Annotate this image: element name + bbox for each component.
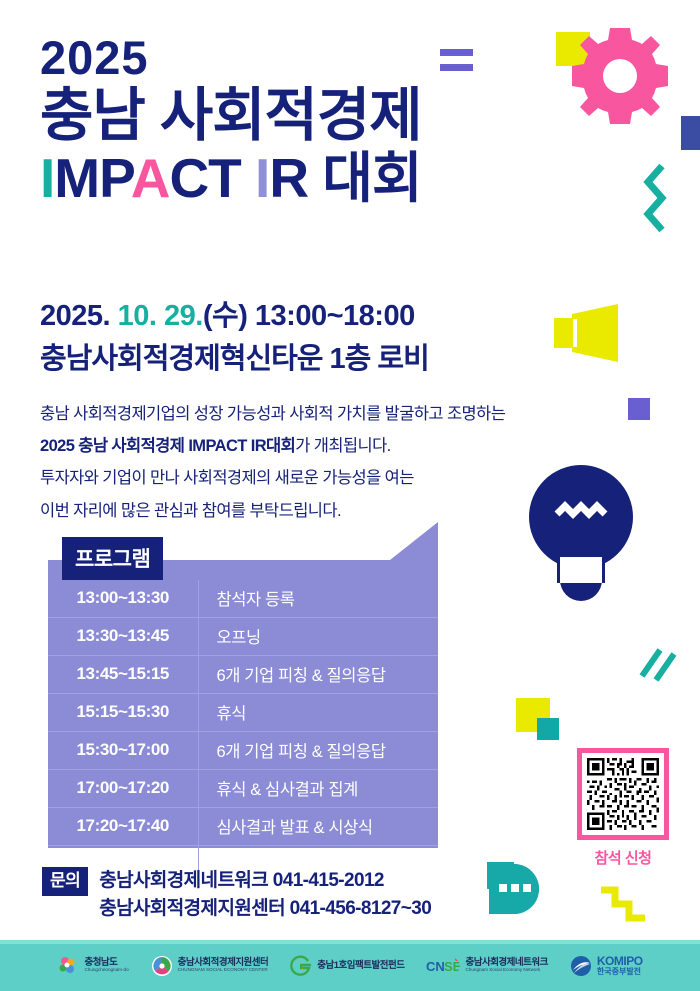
sponsor-logo-chungcheongnamdo: 충청남도 Chungcheongnam-do (57, 955, 128, 977)
date-day: 29. (164, 300, 203, 332)
program-activity: 6개 기업 피칭 & 질의응답 (198, 732, 438, 770)
program-time: 13:45~15:15 (48, 656, 198, 694)
description-emphasis: 2025 충남 사회적경제 IMPACT IR대회 (40, 437, 295, 455)
table-row: 15:15~15:30 휴식 (48, 694, 438, 732)
teal-zigzag-icon (642, 162, 672, 242)
event-poster: 2025 충남 사회적경제 IMPACT IR 대회 2025. 10. 29.… (0, 0, 700, 991)
program-schedule-table: 13:00~13:30 참석자 등록 13:30~13:45 오프닝 13:45… (48, 580, 438, 883)
contact-lines: 충남사회경제네트워크 041-415-2012 충남사회적경제지원센터 041-… (99, 867, 431, 922)
logo-text: 충청남도 Chungcheongnam-do (84, 958, 128, 973)
logo-subtitle: CHUNGNAM SOCIAL ECONOMY CENTER (178, 968, 269, 973)
logo-text: 충남사회적경제지원센터 CHUNGNAM SOCIAL ECONOMY CENT… (178, 958, 269, 973)
description-line-3: 투자자와 기업이 만나 사회적경제의 새로운 가능성을 여는 (40, 462, 520, 494)
contact-line-1: 충남사회경제네트워크 041-415-2012 (99, 867, 431, 895)
logo-text: 충남1호임팩트발전펀드 (317, 961, 404, 971)
sponsor-logo-cnse-network: CN SE 충남사회경제네트워크 Chungnam Social Economy… (426, 955, 547, 977)
event-venue: 충남사회적경제혁신타운 1층 로비 (40, 335, 429, 377)
program-time: 15:15~15:30 (48, 694, 198, 732)
purple-square-mid-icon (628, 398, 650, 420)
event-datetime: 2025. 10. 29.(수) 13:00~18:00 (40, 292, 415, 334)
logo-subtitle: Chungnam Social Economy Network (465, 968, 547, 973)
sponsor-logo-impact-fund: L 충남1호임팩트발전펀드 (290, 955, 404, 977)
table-row: 13:00~13:30 참석자 등록 (48, 580, 438, 618)
description-line-1: 충남 사회적경제기업의 성장 가능성과 사회적 가치를 발굴하고 조명하는 (40, 398, 520, 430)
svg-text:CN: CN (426, 959, 445, 974)
purple-square-top-icon (681, 116, 700, 150)
headline-title-korean: 충남 사회적경제 (40, 85, 580, 146)
program-table-body: 13:00~13:30 참석자 등록 13:30~13:45 오프닝 13:45… (48, 580, 438, 883)
program-badge: 프로그램 (62, 537, 163, 580)
chungcheongnamdo-logo-icon (57, 955, 79, 977)
teal-slashes-icon (638, 646, 678, 684)
program-activity: 참석자 등록 (198, 580, 438, 618)
megaphone-icon (552, 302, 622, 364)
qr-frame[interactable] (577, 748, 669, 840)
description-line-2-tail: 가 개최됩니다. (295, 437, 390, 455)
table-row: 13:45~15:15 6개 기업 피칭 & 질의응답 (48, 656, 438, 694)
date-month: 10. (118, 300, 157, 332)
speech-bubble-icon (487, 862, 541, 914)
program-activity: 휴식 (198, 694, 438, 732)
qr-code-icon[interactable] (587, 758, 659, 830)
program-time: 17:00~17:20 (48, 770, 198, 808)
logo-text: KOMIPO 한국중부발전 (597, 955, 643, 976)
komipo-logo-icon (570, 955, 592, 977)
headline-year: 2025 (40, 34, 580, 81)
svg-text:SE: SE (444, 959, 460, 974)
letter-ct: CT (169, 147, 240, 209)
program-time: 15:30~17:00 (48, 732, 198, 770)
cnse-logo-icon: CN SE (426, 955, 460, 977)
letter-i-teal: I (40, 147, 54, 209)
impact-fund-logo-icon: L (290, 955, 312, 977)
social-economy-center-logo-icon (151, 955, 173, 977)
logo-name: 충남1호임팩트발전펀드 (317, 961, 404, 971)
date-time: 13:00~18:00 (255, 300, 415, 332)
gear-icon (570, 26, 670, 126)
description-line-4: 이번 자리에 많은 관심과 참여를 부탁드립니다. (40, 495, 520, 527)
contact-row: 문의 충남사회경제네트워크 041-415-2012 충남사회적경제지원센터 0… (42, 867, 431, 922)
program-activity: 휴식 & 심사결과 집계 (198, 770, 438, 808)
date-prefix: 2025. (40, 300, 110, 332)
logo-subtitle: Chungcheongnam-do (84, 968, 128, 973)
event-description: 충남 사회적경제기업의 성장 가능성과 사회적 가치를 발굴하고 조명하는 20… (40, 398, 520, 527)
table-row: 13:30~13:45 오프닝 (48, 618, 438, 656)
program-time: 17:20~17:40 (48, 808, 198, 846)
program-activity: 오프닝 (198, 618, 438, 656)
program-activity: 6개 기업 피칭 & 질의응답 (198, 656, 438, 694)
svg-text:L: L (298, 962, 304, 972)
logo-subtitle: 한국중부발전 (597, 968, 643, 976)
program-time: 13:00~13:30 (48, 580, 198, 618)
table-row: 17:00~17:20 휴식 & 심사결과 집계 (48, 770, 438, 808)
program-callout-tail (390, 522, 438, 560)
description-line-2: 2025 충남 사회적경제 IMPACT IR대회가 개최됩니다. (40, 430, 520, 462)
table-row: 15:30~17:00 6개 기업 피칭 & 질의응답 (48, 732, 438, 770)
letter-i-periwinkle: I (255, 147, 269, 209)
program-activity: 심사결과 발표 & 시상식 (198, 808, 438, 846)
sponsor-logo-social-economy-center: 충남사회적경제지원센터 CHUNGNAM SOCIAL ECONOMY CENT… (151, 955, 269, 977)
headline-daehoe: 대회 (322, 147, 421, 209)
letter-r: R (269, 147, 308, 209)
program-time: 13:30~13:45 (48, 618, 198, 656)
date-weekday: (수) (203, 300, 248, 332)
letter-mp: MP (54, 147, 130, 209)
contact-section: 문의 충남사회경제네트워크 041-415-2012 충남사회적경제지원센터 0… (42, 867, 431, 922)
poster-headline: 2025 충남 사회적경제 IMPACT IR 대회 (40, 34, 580, 209)
qr-label: 참석 신청 (577, 847, 669, 868)
logo-name: KOMIPO (597, 955, 643, 968)
contact-line-2: 충남사회적경제지원센터 041-456-8127~30 (99, 895, 431, 923)
yellow-stairs-icon (597, 882, 653, 930)
letter-a-pink: A (131, 147, 170, 209)
contact-badge: 문의 (42, 867, 88, 896)
headline-title-english: IMPACT IR 대회 (40, 148, 580, 209)
table-row: 17:20~17:40 심사결과 발표 & 시상식 (48, 808, 438, 846)
sponsor-logo-komipo: KOMIPO 한국중부발전 (570, 955, 643, 977)
lightbulb-icon (526, 462, 636, 602)
registration-qr-block[interactable]: 참석 신청 (577, 748, 669, 868)
logo-text: 충남사회경제네트워크 Chungnam Social Economy Netwo… (465, 958, 547, 973)
teal-square-icon (537, 718, 559, 740)
sponsor-footer: 충청남도 Chungcheongnam-do 충남사회적경제지원센터 CHUNG… (0, 940, 700, 991)
